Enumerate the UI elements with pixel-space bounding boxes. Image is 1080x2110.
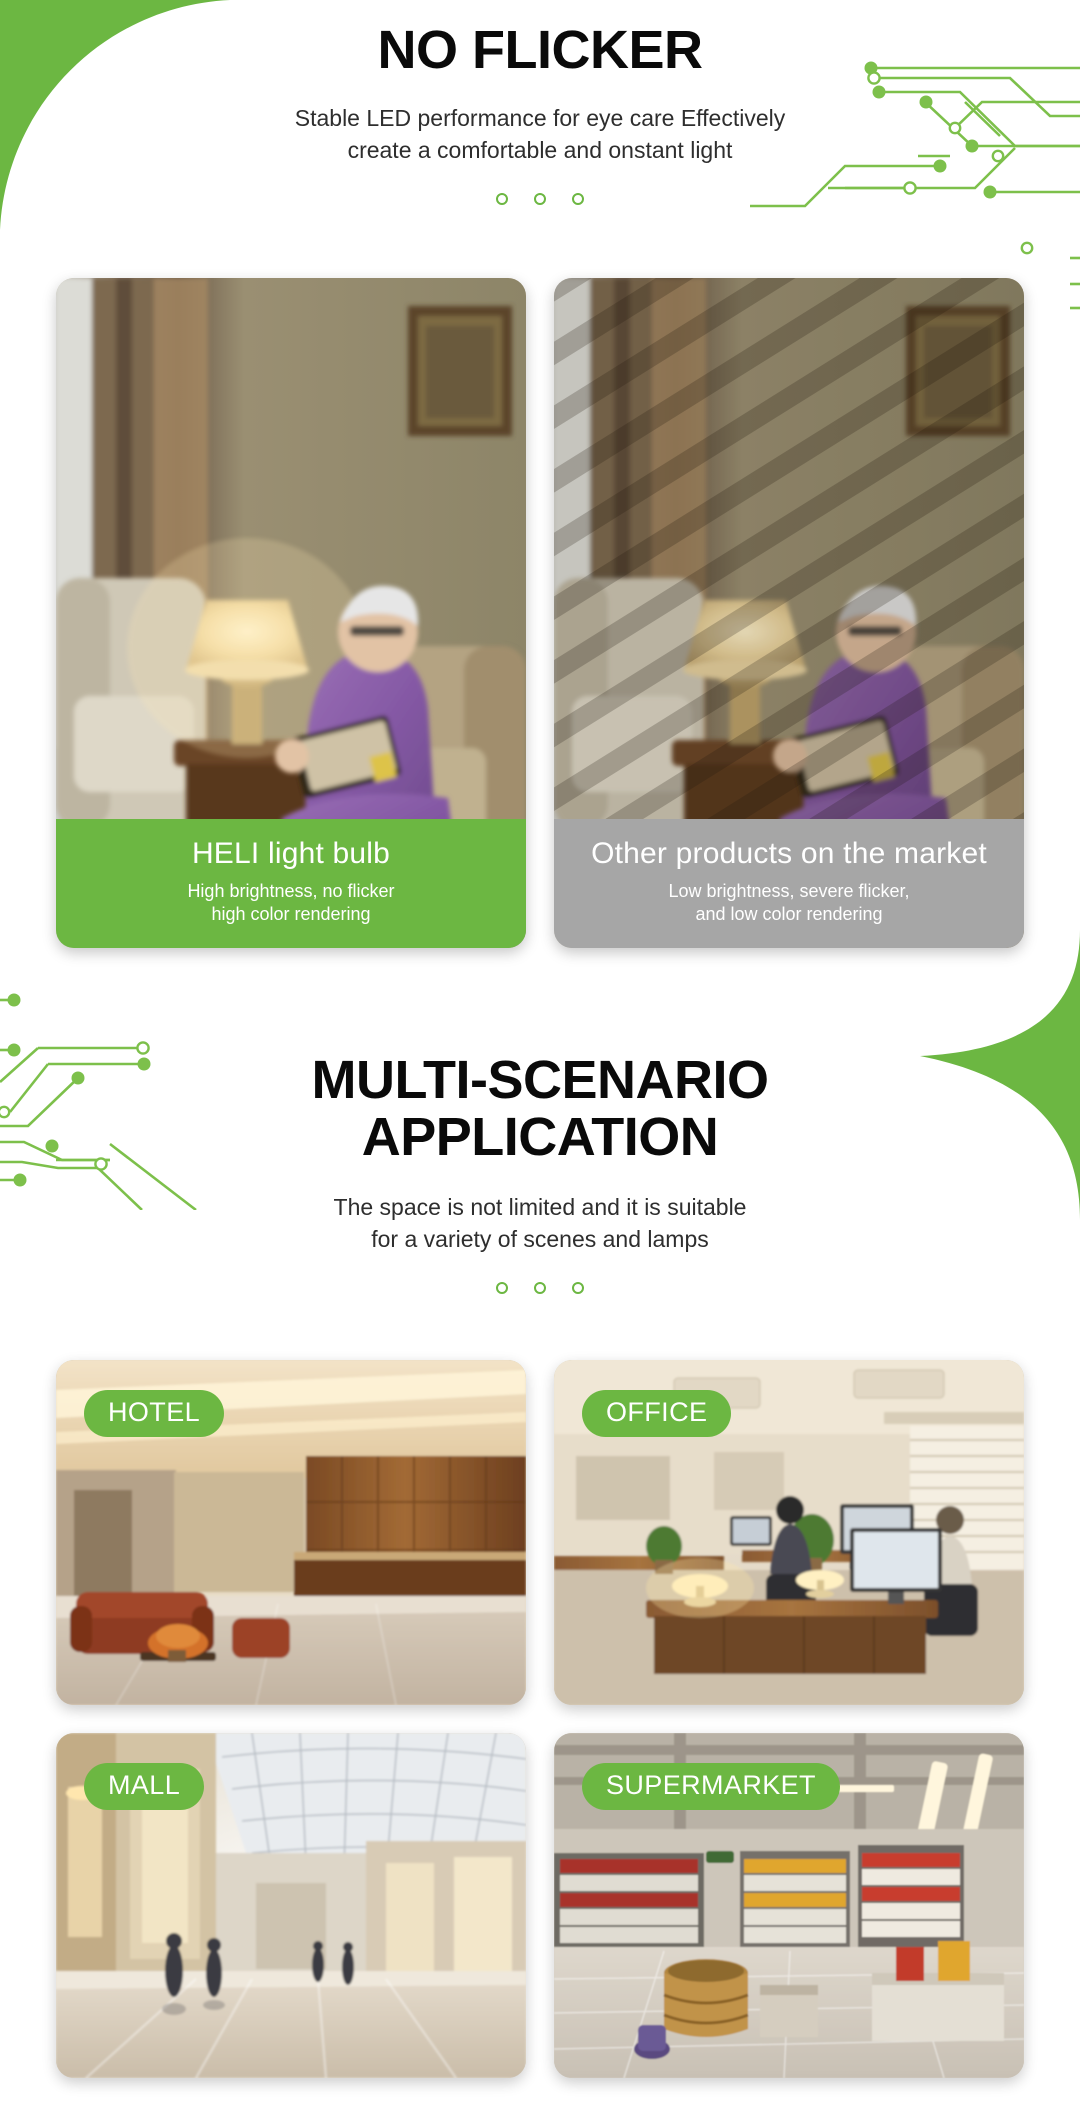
separator-dot (572, 1282, 584, 1294)
page-title-no-flicker: NO FLICKER (0, 22, 1080, 79)
scene-card-office[interactable]: OFFICE (554, 1360, 1024, 1705)
caption-sub-line-1: Low brightness, severe flicker, (668, 881, 909, 901)
caption-sub-line-1: High brightness, no flicker (187, 881, 394, 901)
comparison-card-heli[interactable]: HELI light bulb High brightness, no flic… (56, 278, 526, 948)
headline-line-2: APPLICATION (362, 1107, 719, 1167)
headline-line-1: MULTI-SCENARIO (312, 1050, 769, 1110)
separator-dot (496, 1282, 508, 1294)
separator-dot (534, 1282, 546, 1294)
section-multi-scenario: MULTI-SCENARIO APPLICATION The space is … (0, 1052, 1080, 1294)
scene-card-hotel[interactable]: HOTEL (56, 1360, 526, 1705)
caption-heli: HELI light bulb High brightness, no flic… (56, 819, 526, 948)
badge-mall: MALL (84, 1763, 204, 1810)
subhead-line-2: create a comfortable and onstant light (348, 137, 733, 163)
caption-title: Other products on the market (568, 837, 1010, 872)
subhead-no-flicker: Stable LED performance for eye care Effe… (0, 103, 1080, 166)
page-title-multi-scenario: MULTI-SCENARIO APPLICATION (0, 1052, 1080, 1166)
caption-subtitle: High brightness, no flicker high color r… (70, 880, 512, 926)
caption-sub-line-2: and low color rendering (695, 904, 882, 924)
comparison-card-row: HELI light bulb High brightness, no flic… (0, 278, 1080, 948)
caption-sub-line-2: high color rendering (211, 904, 370, 924)
subhead-line-1: Stable LED performance for eye care Effe… (295, 105, 785, 131)
caption-title: HELI light bulb (70, 837, 512, 872)
caption-subtitle: Low brightness, severe flicker, and low … (568, 880, 1010, 926)
separator-dot (496, 193, 508, 205)
scene-card-mall[interactable]: MALL (56, 1733, 526, 2078)
scene-card-grid: HOTEL (0, 1360, 1080, 2078)
separator-dot (534, 193, 546, 205)
dot-separator (0, 193, 1080, 205)
section-no-flicker: NO FLICKER Stable LED performance for ey… (0, 22, 1080, 205)
product-detail-page: NO FLICKER Stable LED performance for ey… (0, 0, 1080, 2110)
badge-supermarket: SUPERMARKET (582, 1763, 840, 1810)
separator-dot (572, 193, 584, 205)
dot-separator (0, 1282, 1080, 1294)
scene-card-supermarket[interactable]: SUPERMARKET (554, 1733, 1024, 2078)
subhead-line-2: for a variety of scenes and lamps (371, 1226, 709, 1252)
subhead-multi-scenario: The space is not limited and it is suita… (0, 1192, 1080, 1255)
subhead-line-1: The space is not limited and it is suita… (334, 1194, 747, 1220)
badge-hotel: HOTEL (84, 1390, 224, 1437)
caption-other: Other products on the market Low brightn… (554, 819, 1024, 948)
comparison-card-other[interactable]: Other products on the market Low brightn… (554, 278, 1024, 948)
badge-office: OFFICE (582, 1390, 731, 1437)
